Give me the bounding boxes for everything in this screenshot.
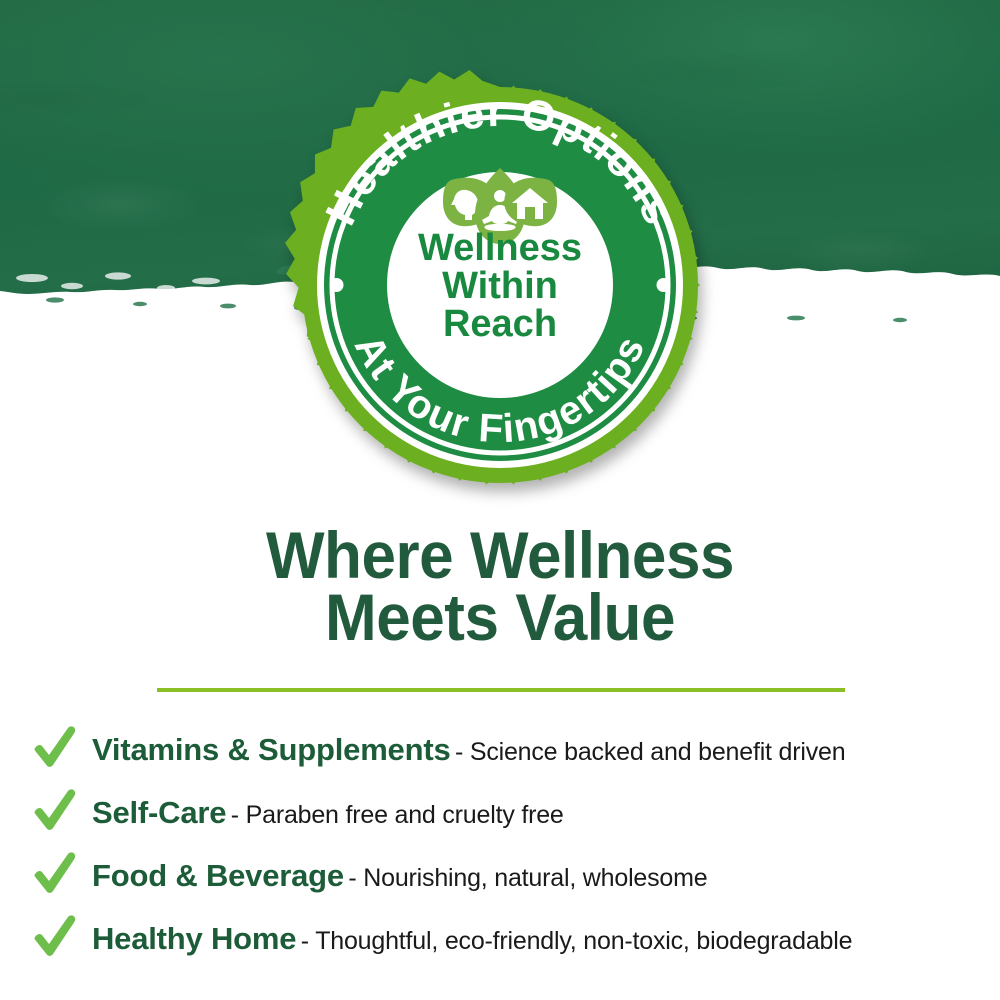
benefit-category: Self-Care [92,795,226,830]
page-title: Where Wellness Meets Value [30,524,970,648]
wellness-badge-seal: Healthier Options At Your Fingertips [299,84,701,456]
check-mark-icon [31,787,77,833]
badge-dot-right [657,278,671,292]
check-mark-icon [31,724,77,770]
benefits-checklist: Vitamins & Supplements - Science backed … [0,718,1000,970]
title-divider [157,688,845,692]
benefit-description: - Thoughtful, eco-friendly, non-toxic, b… [301,927,853,955]
benefit-description: - Nourishing, natural, wholesome [348,864,707,892]
badge-center-line-2: Within [442,265,558,307]
page-title-line-2: Meets Value [30,586,970,648]
benefit-category: Food & Beverage [92,858,344,893]
list-item: Vitamins & Supplements - Science backed … [0,718,1000,781]
benefit-category: Healthy Home [92,921,296,956]
benefit-description: - Science backed and benefit driven [455,738,845,766]
list-item: Self-Care - Paraben free and cruelty fre… [0,781,1000,844]
list-item: Healthy Home - Thoughtful, eco-friendly,… [0,907,1000,970]
check-mark-icon [31,913,77,959]
badge-center-line-3: Reach [443,303,557,345]
benefit-category: Vitamins & Supplements [92,732,451,767]
badge-dot-left [330,278,344,292]
check-mark-icon [31,850,77,896]
promo-banner: Healthier Options At Your Fingertips [0,0,1000,1000]
list-item: Food & Beverage - Nourishing, natural, w… [0,844,1000,907]
benefit-description: - Paraben free and cruelty free [231,801,564,829]
badge-center-line-1: Wellness [418,227,582,269]
